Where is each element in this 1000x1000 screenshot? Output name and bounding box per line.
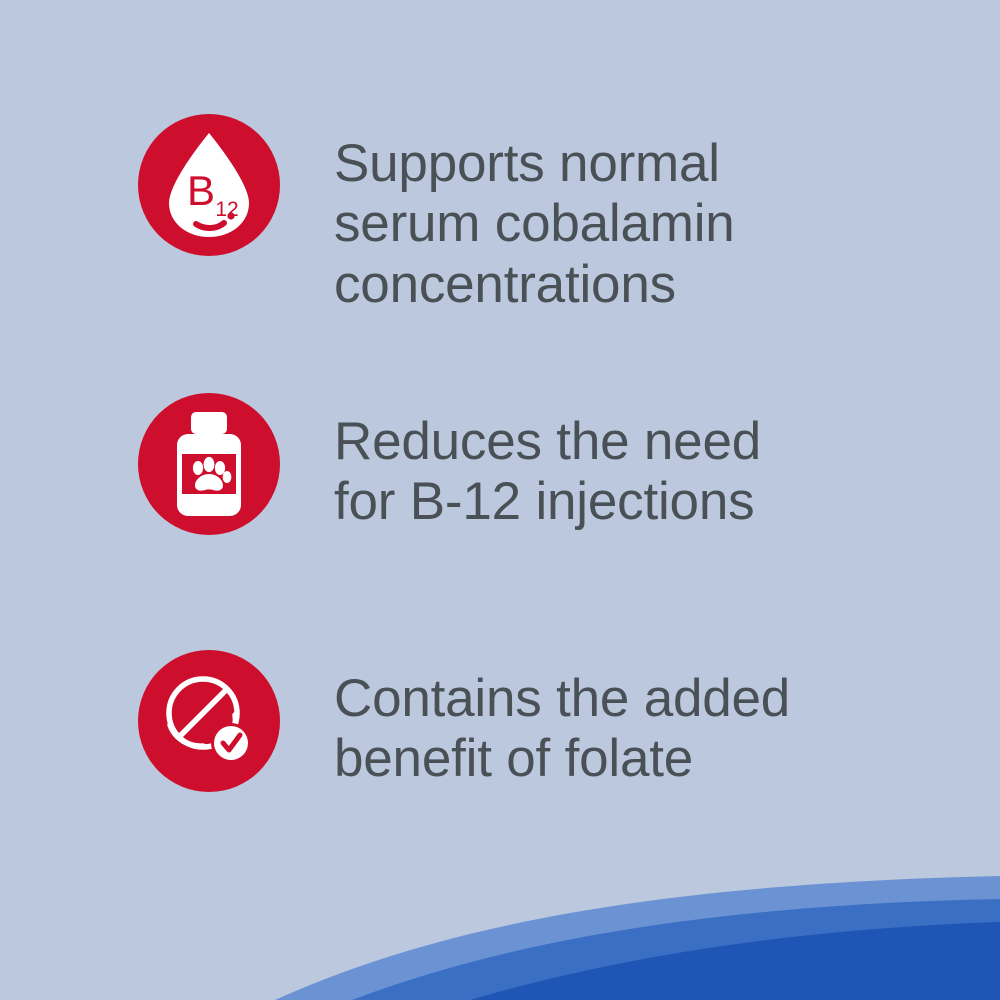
svg-text:B: B — [187, 167, 215, 214]
feature-label: Contains the added benefit of folate — [334, 669, 790, 790]
feature-label: Reduces the need for B-12 injections — [334, 412, 761, 533]
svg-text:12: 12 — [215, 198, 238, 221]
wave-mid-band — [352, 899, 1000, 1000]
feature-item: Contains the added benefit of folate — [138, 650, 790, 792]
feature-label: Supports normal serum cobalamin concentr… — [334, 134, 735, 315]
feature-item: Reduces the need for B-12 injections — [138, 393, 761, 535]
tablet-check-icon — [138, 650, 280, 792]
feature-item: B 12 Supports normal serum cobalamin con… — [138, 114, 735, 315]
promo-feature-panel: B 12 Supports normal serum cobalamin con… — [0, 0, 1000, 1000]
wave-light-band — [275, 876, 1000, 1000]
wave-deep-band — [470, 922, 1000, 1000]
blood-drop-b12-icon: B 12 — [138, 114, 280, 256]
pill-bottle-paw-icon — [138, 393, 280, 535]
